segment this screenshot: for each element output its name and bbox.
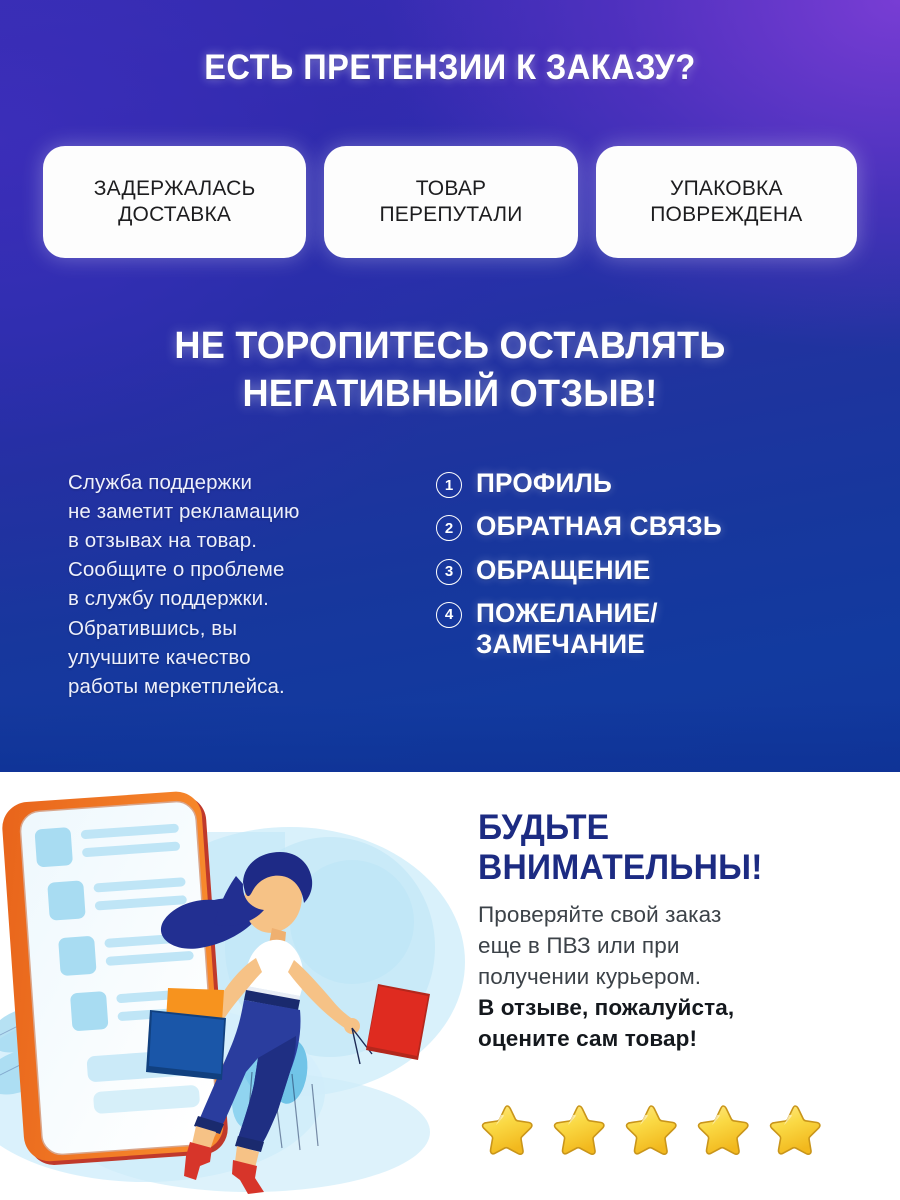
attention-line-1: Проверяйте свой заказ xyxy=(478,902,721,927)
attention-heading: БУДЬТЕ ВНИМАТЕЛЬНЫ! xyxy=(478,808,862,888)
step-number-2: 2 xyxy=(436,515,462,541)
star-icon[interactable] xyxy=(478,1102,536,1158)
warning-heading: НЕ ТОРОПИТЕСЬ ОСТАВЛЯТЬ НЕГАТИВНЫЙ ОТЗЫВ… xyxy=(23,322,878,419)
step-item-profile[interactable]: 1 ПРОФИЛЬ xyxy=(436,468,866,499)
step-item-appeal[interactable]: 3 ОБРАЩЕНИЕ xyxy=(436,555,866,586)
step-label-profile: ПРОФИЛЬ xyxy=(476,468,612,499)
attention-line-2: еще в ПВЗ или при xyxy=(478,933,680,958)
step-number-4: 4 xyxy=(436,602,462,628)
claim-card-damaged-packaging[interactable]: УПАКОВКА ПОВРЕЖДЕНА xyxy=(596,146,857,258)
step-item-suggestion[interactable]: 4 ПОЖЕЛАНИЕ/ ЗАМЕЧАНИЕ xyxy=(436,598,866,661)
attention-line-3: получении курьером. xyxy=(478,964,701,989)
step-item-feedback[interactable]: 2 ОБРАТНАЯ СВЯЗЬ xyxy=(436,511,866,542)
step-label-appeal: ОБРАЩЕНИЕ xyxy=(476,555,650,586)
claim-cards-row: ЗАДЕРЖАЛАСЬ ДОСТАВКА ТОВАР ПЕРЕПУТАЛИ УП… xyxy=(43,146,857,258)
attention-bold-line-1: В отзыве, пожалуйста, xyxy=(478,992,878,1023)
step-number-3: 3 xyxy=(436,559,462,585)
star-rating[interactable] xyxy=(478,1102,824,1158)
page-title: ЕСТЬ ПРЕТЕНЗИИ К ЗАКАЗУ? xyxy=(32,48,869,88)
panel-bottom-fade xyxy=(0,702,900,772)
step-label-feedback: ОБРАТНАЯ СВЯЗЬ xyxy=(476,511,722,542)
attention-bold-line-2: оцените сам товар! xyxy=(478,1023,878,1054)
step-label-suggestion: ПОЖЕЛАНИЕ/ ЗАМЕЧАНИЕ xyxy=(476,598,658,661)
steps-list: 1 ПРОФИЛЬ 2 ОБРАТНАЯ СВЯЗЬ 3 ОБРАЩЕНИЕ 4… xyxy=(436,468,866,661)
star-icon[interactable] xyxy=(622,1102,680,1158)
woman-shopping-with-phone-illustration xyxy=(0,772,470,1200)
review-guidance-poster: ЕСТЬ ПРЕТЕНЗИИ К ЗАКАЗУ? ЗАДЕРЖАЛАСЬ ДОС… xyxy=(0,0,900,1200)
claim-card-delayed-delivery[interactable]: ЗАДЕРЖАЛАСЬ ДОСТАВКА xyxy=(43,146,306,258)
shopping-bag-blue xyxy=(146,1010,226,1080)
support-paragraph: Служба поддержки не заметит рекламацию в… xyxy=(68,468,398,701)
star-icon[interactable] xyxy=(550,1102,608,1158)
claim-card-wrong-item[interactable]: ТОВАР ПЕРЕПУТАЛИ xyxy=(324,146,577,258)
attention-paragraph: Проверяйте свой заказ еще в ПВЗ или при … xyxy=(478,899,878,1054)
star-icon[interactable] xyxy=(694,1102,752,1158)
star-icon[interactable] xyxy=(766,1102,824,1158)
smartphone-illustration xyxy=(1,790,230,1167)
step-number-1: 1 xyxy=(436,472,462,498)
